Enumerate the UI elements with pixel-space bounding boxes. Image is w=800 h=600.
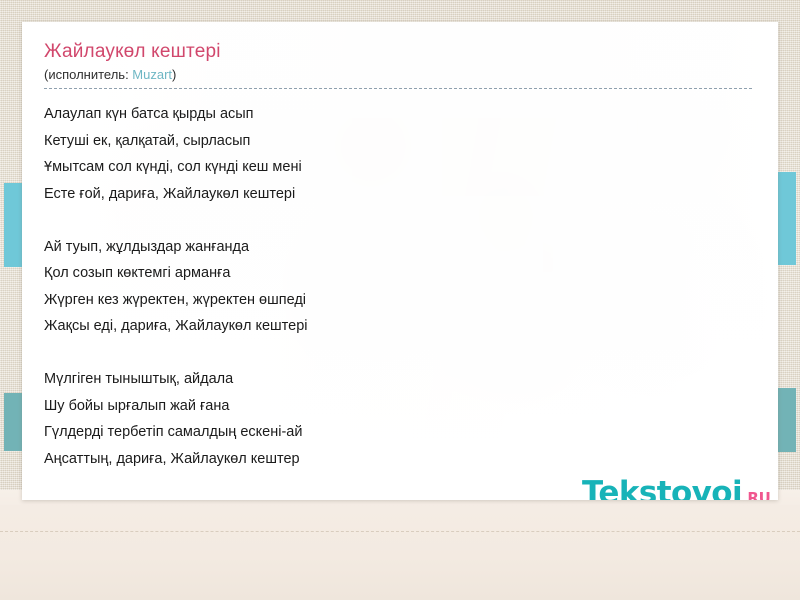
lower-band xyxy=(0,505,800,600)
lyric-line: Жақсы еді, дариға, Жайлаукөл кештері xyxy=(44,313,754,340)
lower-band-dashed-rule xyxy=(0,531,800,532)
artist-suffix-label: ) xyxy=(172,67,176,82)
lyric-line: Гүлдерді тербетіп самалдың ескені-ай xyxy=(44,419,754,446)
lyrics-body: Алаулап күн батса қырды асып Кетуші ек, … xyxy=(44,101,754,472)
lyric-line: Мүлгіген тыныштық, айдала xyxy=(44,366,754,393)
site-logo-tld: .RU xyxy=(742,489,771,500)
artist-line: (исполнитель: Muzart) xyxy=(44,66,754,83)
header-dashed-rule xyxy=(44,88,752,89)
lyrics-verse: Ай туып, жұлдыздар жанғанда Қол созып кө… xyxy=(44,234,754,340)
artist-link[interactable]: Muzart xyxy=(132,67,172,82)
card-content: Жайлаукөл кештері (исполнитель: Muzart) … xyxy=(22,22,778,500)
lyric-line: Қол созып көктемгі арманға xyxy=(44,260,754,287)
lyric-line: Аңсаттың, дариға, Жайлаукөл кештер xyxy=(44,446,754,473)
site-logo-name: Tekstovoi xyxy=(582,477,742,500)
lyric-line: Жүрген кез жүректен, жүректен өшпеді xyxy=(44,287,754,314)
lyrics-verse: Мүлгіген тыныштық, айдала Шу бойы ырғалы… xyxy=(44,366,754,472)
lyrics-verse: Алаулап күн батса қырды асып Кетуші ек, … xyxy=(44,101,754,207)
lyric-line: Шу бойы ырғалып жай ғана xyxy=(44,393,754,420)
lyrics-card: Жайлаукөл кештері (исполнитель: Muzart) … xyxy=(22,22,778,500)
page-root: Жайлаукөл кештері (исполнитель: Muzart) … xyxy=(0,0,800,600)
lyric-line: Кетуші ек, қалқатай, сырласып xyxy=(44,128,754,155)
page-title: Жайлаукөл кештері xyxy=(44,40,754,64)
site-logo: Tekstovoi.RU тексты песен xyxy=(582,477,778,500)
artist-prefix-label: (исполнитель: xyxy=(44,67,132,82)
lyric-line: Ұмытсам сол күнді, сол күнді кеш мені xyxy=(44,154,754,181)
lyric-line: Ай туып, жұлдыздар жанғанда xyxy=(44,234,754,261)
lyric-line: Есте ғой, дариға, Жайлаукөл кештері xyxy=(44,181,754,208)
lyric-line: Алаулап күн батса қырды асып xyxy=(44,101,754,128)
